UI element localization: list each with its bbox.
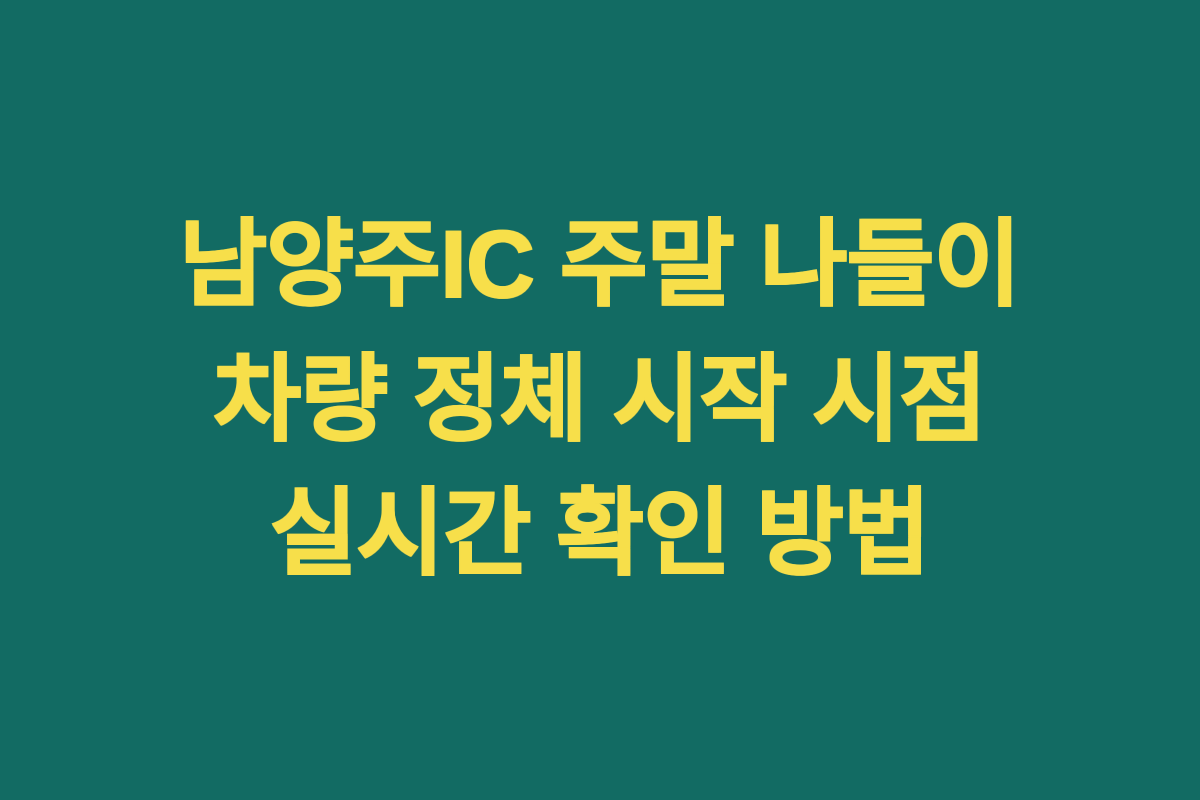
title-card: 남양주IC 주말 나들이 차량 정체 시작 시점 실시간 확인 방법 — [0, 0, 1200, 800]
page-title: 남양주IC 주말 나들이 차량 정체 시작 시점 실시간 확인 방법 — [80, 198, 1120, 603]
